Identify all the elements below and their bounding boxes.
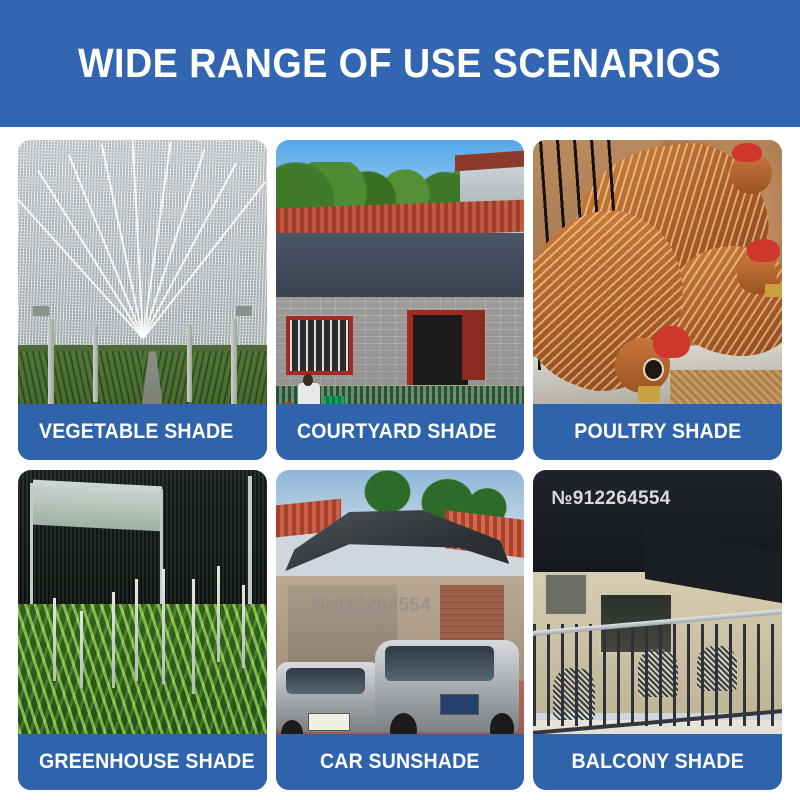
card-caption-text: VEGETABLE SHADE xyxy=(39,420,234,444)
scenario-card-car-sunshade[interactable]: №912264554 CAR SUNSHADE xyxy=(276,470,525,790)
card-caption-vegetable-shade: VEGETABLE SHADE xyxy=(18,404,267,460)
card-caption-text: CAR SUNSHADE xyxy=(320,750,480,774)
scenario-card-vegetable-shade[interactable]: VEGETABLE SHADE xyxy=(18,140,267,460)
product-infographic: WIDE RANGE OF USE SCENARIOS xyxy=(0,0,800,800)
scenario-card-greenhouse-shade[interactable]: GREENHOUSE SHADE xyxy=(18,470,267,790)
card-caption-car-sunshade: CAR SUNSHADE xyxy=(276,734,525,790)
card-caption-text: COURTYARD SHADE xyxy=(297,420,497,444)
card-caption-text: POULTRY SHADE xyxy=(574,420,741,444)
card-caption-text: BALCONY SHADE xyxy=(571,750,743,774)
scenario-card-courtyard-shade[interactable]: COURTYARD SHADE xyxy=(276,140,525,460)
watermark-balcony-shade: №912264554 xyxy=(551,488,670,510)
header-banner: WIDE RANGE OF USE SCENARIOS xyxy=(0,0,800,127)
scenario-card-balcony-shade[interactable]: №912264554 BALCONY SHADE xyxy=(533,470,782,790)
card-caption-courtyard-shade: COURTYARD SHADE xyxy=(276,404,525,460)
scenario-grid: VEGETABLE SHADE xyxy=(18,140,782,790)
card-caption-greenhouse-shade: GREENHOUSE SHADE xyxy=(18,734,267,790)
card-caption-poultry-shade: POULTRY SHADE xyxy=(533,404,782,460)
card-caption-balcony-shade: BALCONY SHADE xyxy=(533,734,782,790)
page-title: WIDE RANGE OF USE SCENARIOS xyxy=(78,43,721,84)
watermark-car-sunshade: №912264554 xyxy=(312,595,431,617)
scenario-card-poultry-shade[interactable]: POULTRY SHADE xyxy=(533,140,782,460)
card-caption-text: GREENHOUSE SHADE xyxy=(39,750,255,774)
